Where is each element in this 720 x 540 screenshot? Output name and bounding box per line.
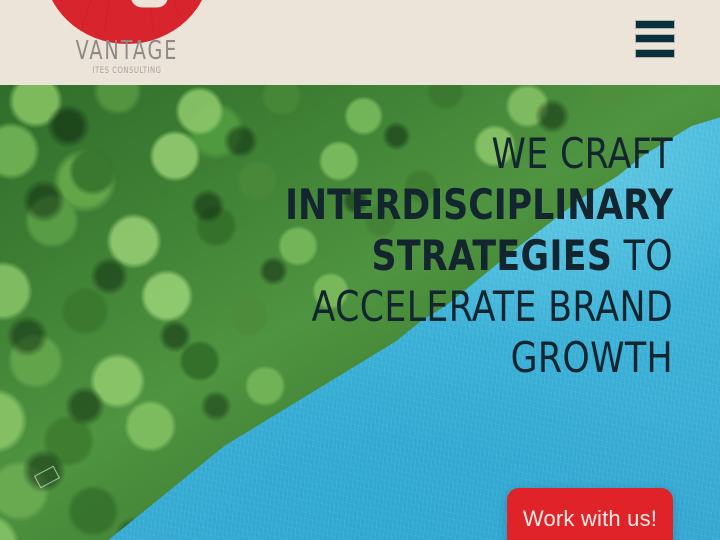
hamburger-bar-1 — [635, 20, 675, 29]
headline-line-3: STRATEGIES TO — [277, 230, 673, 281]
hamburger-menu-icon[interactable] — [635, 20, 675, 58]
site-header: VANTAGE ITES CONSULTING — [0, 0, 720, 85]
headline-line-5: GROWTH — [277, 332, 673, 383]
brand-name: VANTAGE — [57, 38, 196, 64]
headline-line-3-light: TO — [612, 231, 673, 280]
headline-line-1: WE CRAFT — [277, 128, 673, 179]
cta-label: Work with us! — [523, 506, 657, 532]
hero-headline: WE CRAFT INTERDISCIPLINARY STRATEGIES TO… — [243, 128, 673, 383]
work-with-us-button[interactable]: Work with us! — [507, 488, 673, 540]
headline-line-3-bold: STRATEGIES — [371, 231, 612, 280]
headline-line-4: ACCELERATE BRAND — [277, 281, 673, 332]
brand-tagline: ITES CONSULTING — [55, 66, 200, 76]
landing-page-hero: VANTAGE ITES CONSULTING WE CRAFT INTERDI… — [0, 0, 720, 540]
hamburger-bar-3 — [635, 49, 675, 58]
brand-logo[interactable]: VANTAGE ITES CONSULTING — [42, 0, 212, 86]
hamburger-bar-2 — [635, 34, 675, 43]
headline-line-2: INTERDISCIPLINARY — [277, 179, 673, 230]
